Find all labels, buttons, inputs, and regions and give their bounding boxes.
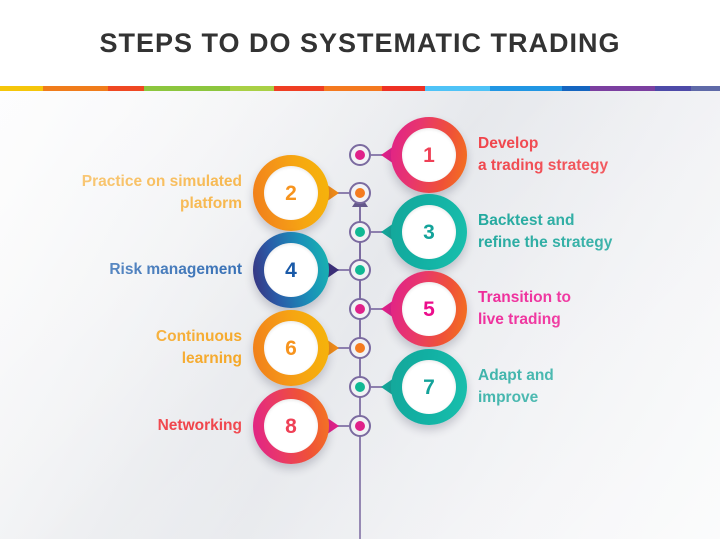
step-number-label: 7	[423, 377, 435, 398]
timeline-node-7[interactable]	[349, 376, 371, 398]
diagram-canvas: 1Developa trading strategy2Practice on s…	[0, 91, 720, 539]
timeline-node-1[interactable]	[349, 144, 371, 166]
step-number-badge-inner: 6	[264, 321, 318, 375]
step-number-badge-inner: 5	[402, 282, 456, 336]
timeline-node-dot	[355, 382, 365, 392]
step-number-badge-5[interactable]: 5	[391, 271, 467, 347]
step-number-label: 6	[285, 338, 297, 359]
timeline-node-dot	[355, 343, 365, 353]
page-title: STEPS TO DO SYSTEMATIC TRADING	[99, 28, 620, 59]
step-caption-line1: Practice on simulated	[12, 171, 242, 193]
step-number-badge-inner: 8	[264, 399, 318, 453]
step-number-badge-3[interactable]: 3	[391, 194, 467, 270]
step-caption-8: Networking	[12, 392, 242, 460]
step-number-badge-inner: 2	[264, 166, 318, 220]
timeline-node-dot	[355, 265, 365, 275]
step-number-label: 2	[285, 183, 297, 204]
step-caption-7: Adapt andimprove	[478, 353, 708, 421]
step-number-label: 8	[285, 416, 297, 437]
timeline-node-5[interactable]	[349, 298, 371, 320]
step-caption-2: Practice on simulatedplatform	[12, 159, 242, 227]
step-number-badge-inner: 1	[402, 128, 456, 182]
timeline-node-8[interactable]	[349, 415, 371, 437]
step-caption-5: Transition tolive trading	[478, 275, 708, 343]
step-number-badge-inner: 7	[402, 360, 456, 414]
step-caption-line2: a trading strategy	[478, 155, 708, 177]
timeline-node-2[interactable]	[349, 182, 371, 204]
step-number-badge-inner: 3	[402, 205, 456, 259]
step-number-label: 5	[423, 299, 435, 320]
title-bar: STEPS TO DO SYSTEMATIC TRADING	[0, 0, 720, 86]
timeline-node-3[interactable]	[349, 221, 371, 243]
step-caption-line2: live trading	[478, 309, 708, 331]
step-caption-line2: platform	[12, 193, 242, 215]
timeline-node-dot	[355, 188, 365, 198]
step-number-badge-6[interactable]: 6	[253, 310, 329, 386]
step-caption-line1: Networking	[12, 415, 242, 437]
timeline-spine	[359, 201, 361, 539]
step-caption-line1: Risk management	[12, 259, 242, 281]
infographic-poster: STEPS TO DO SYSTEMATIC TRADING 1Developa…	[0, 0, 720, 539]
step-caption-3: Backtest andrefine the strategy	[478, 198, 708, 266]
timeline-node-dot	[355, 421, 365, 431]
timeline-node-6[interactable]	[349, 337, 371, 359]
step-number-badge-2[interactable]: 2	[253, 155, 329, 231]
step-caption-4: Risk management	[12, 236, 242, 304]
step-number-badge-4[interactable]: 4	[253, 232, 329, 308]
step-caption-line2: learning	[12, 348, 242, 370]
step-number-badge-8[interactable]: 8	[253, 388, 329, 464]
step-caption-1: Developa trading strategy	[478, 121, 708, 189]
timeline-node-dot	[355, 227, 365, 237]
step-number-label: 4	[285, 260, 297, 281]
step-caption-6: Continuouslearning	[12, 314, 242, 382]
step-number-label: 1	[423, 145, 435, 166]
step-caption-line1: Backtest and	[478, 210, 708, 232]
step-number-badge-inner: 4	[264, 243, 318, 297]
step-number-label: 3	[423, 222, 435, 243]
timeline-node-dot	[355, 150, 365, 160]
timeline-node-dot	[355, 304, 365, 314]
step-caption-line1: Transition to	[478, 287, 708, 309]
step-caption-line1: Develop	[478, 133, 708, 155]
step-caption-line2: improve	[478, 387, 708, 409]
timeline-node-4[interactable]	[349, 259, 371, 281]
step-caption-line1: Continuous	[12, 326, 242, 348]
step-caption-line2: refine the strategy	[478, 232, 708, 254]
step-number-badge-1[interactable]: 1	[391, 117, 467, 193]
step-number-badge-7[interactable]: 7	[391, 349, 467, 425]
step-caption-line1: Adapt and	[478, 365, 708, 387]
